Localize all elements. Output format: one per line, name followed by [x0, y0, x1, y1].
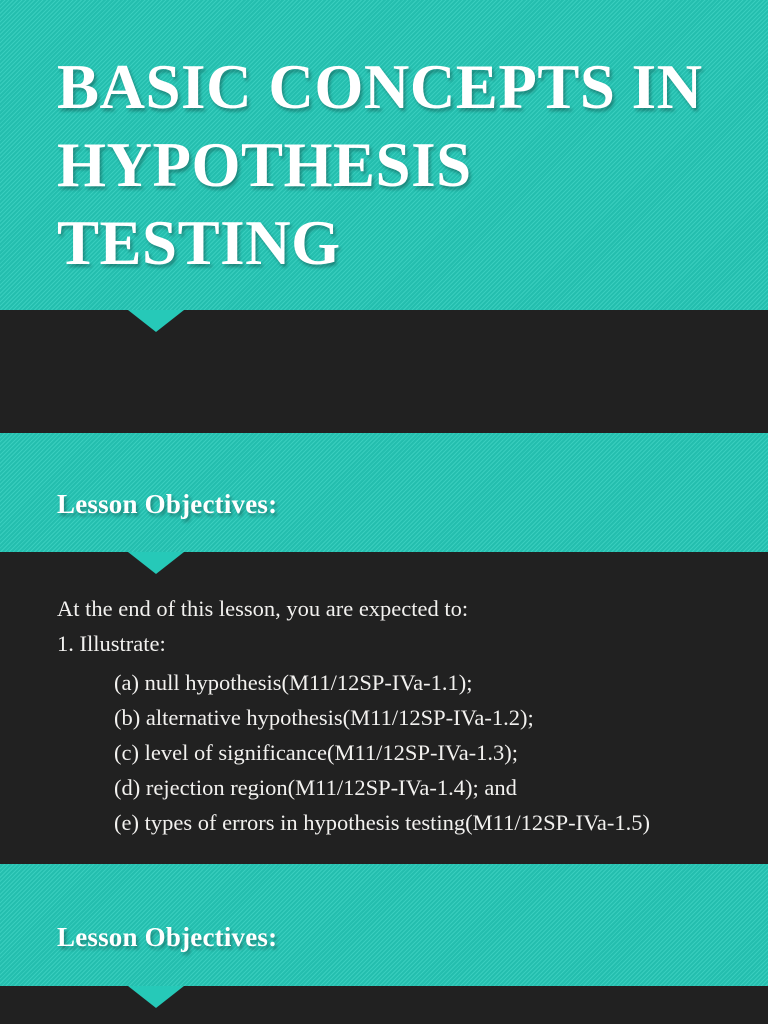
- objectives-sub-item-d: (d) rejection region(M11/12SP-IVa-1.4); …: [114, 775, 517, 801]
- title-panel-notch-icon: [128, 310, 184, 332]
- objectives-heading-panel: Lesson Objectives:: [0, 433, 768, 552]
- title-slide-panel: Basic Concepts in Hypothesis Testing: [0, 0, 768, 310]
- objectives-sub-item-e: (e) types of errors in hypothesis testin…: [114, 810, 650, 836]
- objectives-sub-item-c: (c) level of significance(M11/12SP-IVa-1…: [114, 740, 518, 766]
- objectives-sub-item-b: (b) alternative hypothesis(M11/12SP-IVa-…: [114, 705, 534, 731]
- next-slide-heading-panel: Lesson Objectives:: [0, 864, 768, 986]
- objectives-sub-item-a: (a) null hypothesis(M11/12SP-IVa-1.1);: [114, 670, 473, 696]
- objectives-body: At the end of this lesson, you are expec…: [0, 574, 768, 862]
- slide-deck: Basic Concepts in Hypothesis Testing Les…: [0, 0, 768, 1024]
- objectives-intro-text: At the end of this lesson, you are expec…: [57, 596, 468, 622]
- next-slide-panel-notch-icon: [128, 986, 184, 1008]
- objectives-panel-notch-icon: [128, 552, 184, 574]
- objectives-list-item-1: 1. Illustrate:: [57, 631, 166, 657]
- objectives-heading: Lesson Objectives:: [57, 489, 277, 520]
- next-slide-heading: Lesson Objectives:: [57, 922, 277, 953]
- page-title: Basic Concepts in Hypothesis Testing: [57, 48, 737, 282]
